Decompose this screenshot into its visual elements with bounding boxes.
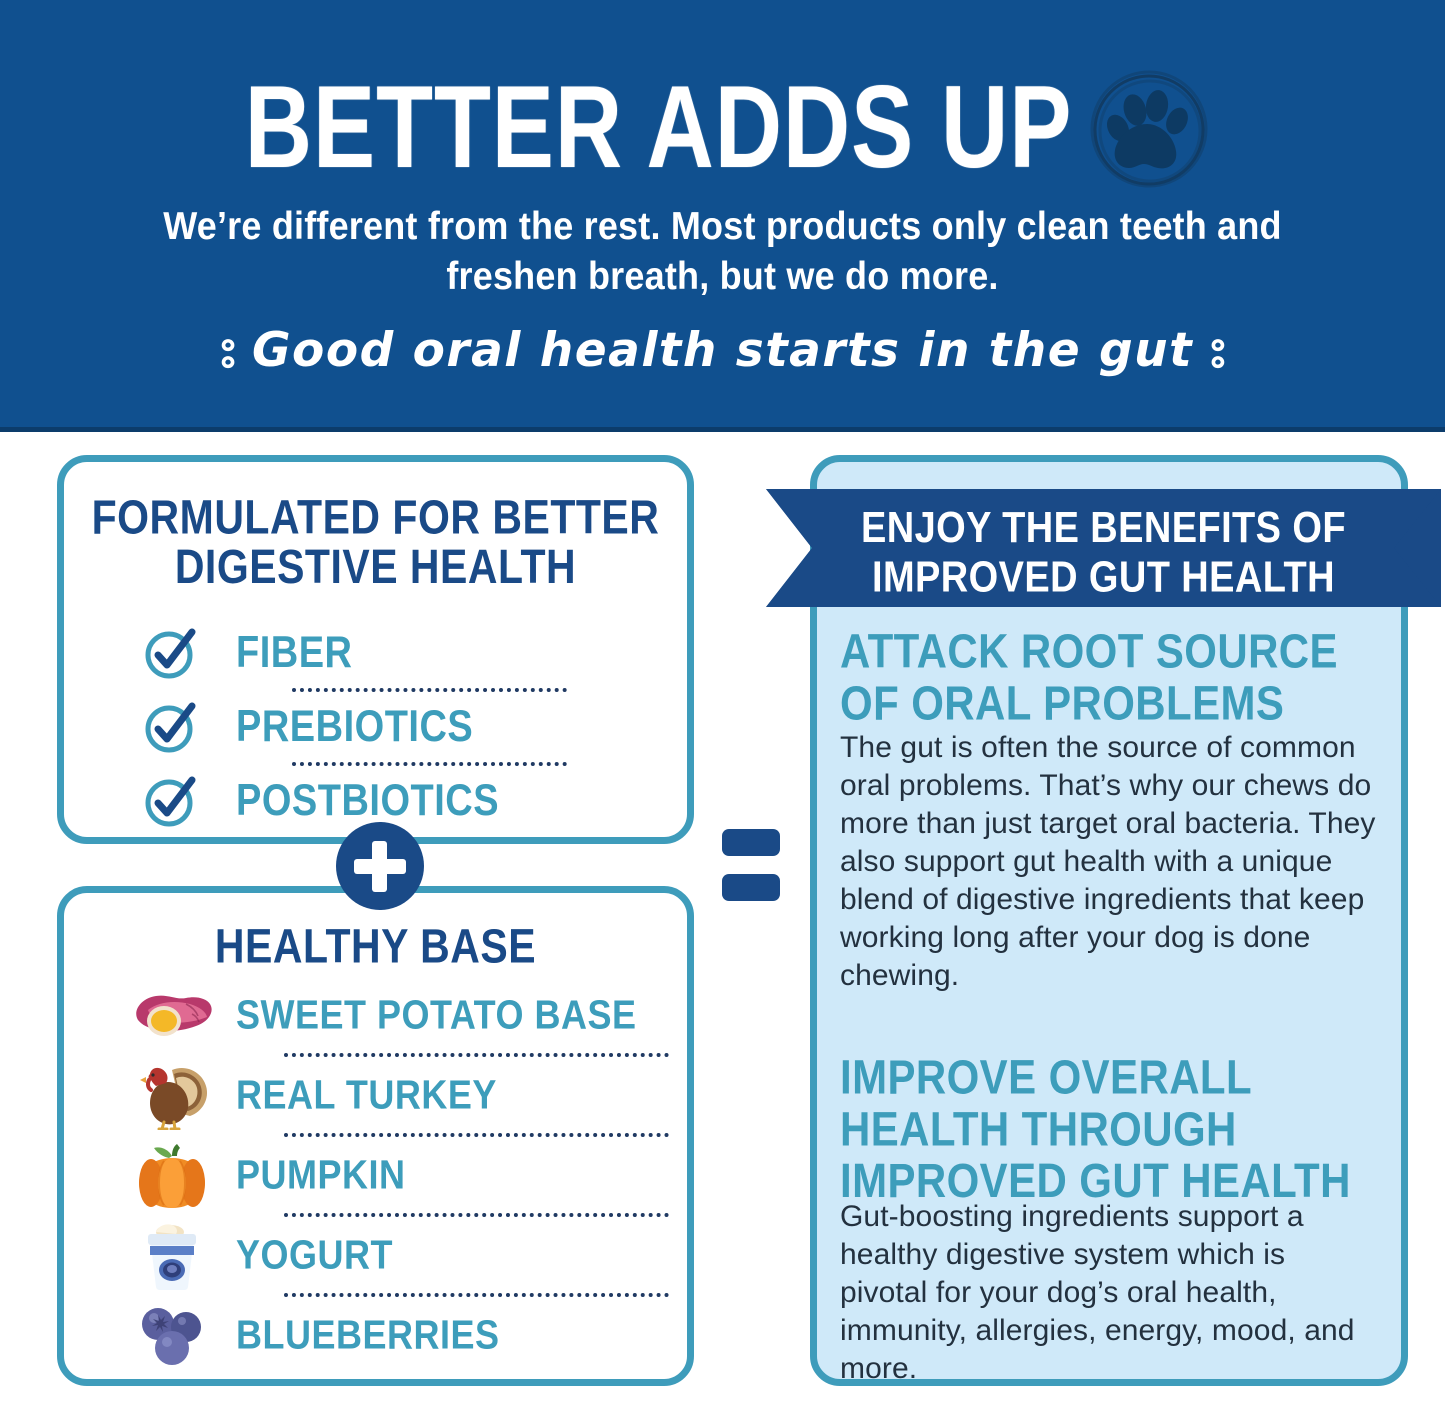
header-subtitle: We’re different from the rest. Most prod…	[140, 201, 1305, 300]
sweet-potato-icon	[126, 980, 218, 1050]
banner-line-2: IMPROVED GUT HEALTH	[766, 553, 1441, 602]
plus-icon	[336, 822, 424, 910]
healthy-base-card: HEALTHY BASE SWEET POTATO BASE	[57, 886, 694, 1386]
benefits-banner-text: ENJOY THE BENEFITS OF IMPROVED GUT HEALT…	[766, 489, 1441, 625]
benefit-section: IMPROVE OVERALL HEALTH THROUGH IMPROVED …	[840, 1051, 1380, 1388]
checklist: FIBER PREBIOTICS POSTBIOTICS	[64, 618, 687, 836]
page-title: BETTER ADDS UP	[244, 66, 1072, 190]
list-item: FIBER	[142, 618, 687, 688]
benefits-content: ATTACK ROOT SOURCE OF ORAL PROBLEMS The …	[840, 625, 1380, 1388]
list-item: POSTBIOTICS	[142, 766, 687, 836]
list-item: PUMPKIN	[126, 1137, 687, 1213]
equals-bar-bottom	[722, 874, 780, 901]
blueberries-icon	[126, 1300, 218, 1370]
check-circle-icon	[142, 772, 200, 830]
header-title-row: BETTER ADDS UP	[0, 62, 1445, 194]
formulated-card-title: FORMULATED FOR BETTER DIGESTIVE HEALTH	[64, 492, 687, 591]
header-banner: BETTER ADDS UP We’re different from the …	[0, 0, 1445, 432]
list-item-label: REAL TURKEY	[236, 1071, 497, 1119]
header-script-line: ⦂ Good oral health starts in the gut ⦂	[0, 320, 1445, 382]
list-item-label: POSTBIOTICS	[236, 776, 499, 826]
list-item-label: FIBER	[236, 628, 353, 678]
list-item: SWEET POTATO BASE	[126, 977, 687, 1053]
list-item: YOGURT	[126, 1217, 687, 1293]
script-dash-left: ⦂	[221, 323, 234, 378]
benefit-body: The gut is often the source of common or…	[840, 729, 1380, 995]
benefit-body: Gut-boosting ingredients support a healt…	[840, 1198, 1380, 1388]
script-dash-right: ⦂	[1211, 323, 1224, 378]
turkey-icon	[126, 1060, 218, 1130]
yogurt-cup-icon	[126, 1220, 218, 1290]
list-item-label: SWEET POTATO BASE	[236, 991, 637, 1039]
check-circle-icon	[142, 698, 200, 756]
formulated-card: FORMULATED FOR BETTER DIGESTIVE HEALTH F…	[57, 455, 694, 844]
equals-bar-top	[722, 829, 780, 856]
ingredient-list: SWEET POTATO BASE	[64, 977, 687, 1373]
benefit-heading: IMPROVE OVERALL HEALTH THROUGH IMPROVED …	[840, 1051, 1380, 1206]
pumpkin-icon	[126, 1140, 218, 1210]
equals-icon	[722, 829, 780, 901]
benefit-section: ATTACK ROOT SOURCE OF ORAL PROBLEMS The …	[840, 625, 1380, 995]
list-item: PREBIOTICS	[142, 692, 687, 762]
list-item-label: PUMPKIN	[236, 1151, 406, 1199]
plus-bar-vertical	[372, 841, 387, 892]
paw-print-icon	[1085, 66, 1213, 194]
benefit-heading: ATTACK ROOT SOURCE OF ORAL PROBLEMS	[840, 625, 1380, 729]
check-circle-icon	[142, 624, 200, 682]
healthy-base-card-title: HEALTHY BASE	[64, 921, 687, 971]
list-item-label: BLUEBERRIES	[236, 1311, 500, 1359]
list-item-label: PREBIOTICS	[236, 702, 473, 752]
list-item-label: YOGURT	[236, 1231, 393, 1279]
banner-line-1: ENJOY THE BENEFITS OF	[766, 504, 1441, 553]
list-item: BLUEBERRIES	[126, 1297, 687, 1373]
script-text: Good oral health starts in the gut	[252, 323, 1193, 378]
list-item: REAL TURKEY	[126, 1057, 687, 1133]
